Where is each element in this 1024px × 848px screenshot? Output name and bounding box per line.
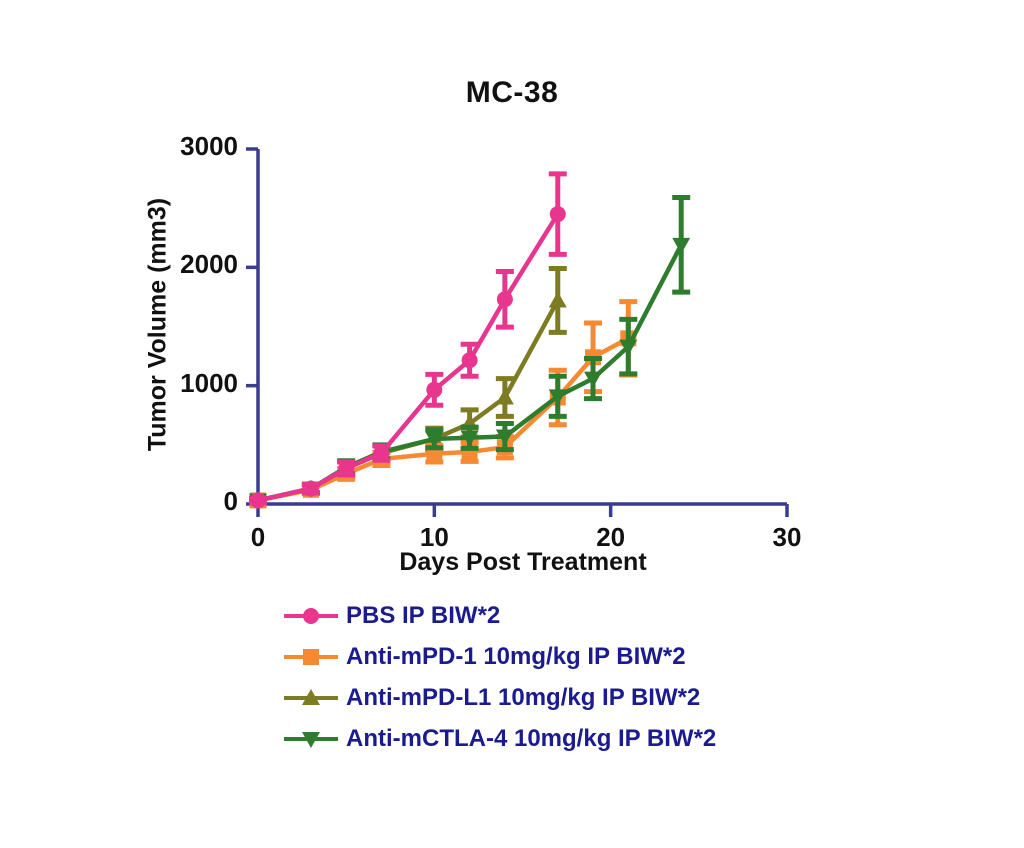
data-point-circle-icon xyxy=(373,445,389,461)
legend-square-icon xyxy=(303,649,319,665)
data-point-circle-icon xyxy=(250,492,266,508)
legend-label: PBS IP BIW*2 xyxy=(346,602,500,630)
data-point-circle-icon xyxy=(497,291,513,307)
x-tick-label: 0 xyxy=(208,522,308,553)
data-point-circle-icon xyxy=(338,461,354,477)
legend-label: Anti-mCTLA-4 10mg/kg IP BIW*2 xyxy=(346,725,716,753)
legend: PBS IP BIW*2 Anti-mPD-1 10mg/kg IP BIW*2… xyxy=(282,598,716,757)
series-2 xyxy=(249,269,567,508)
y-tick-label: 2000 xyxy=(0,249,238,280)
legend-item[interactable]: PBS IP BIW*2 xyxy=(282,598,716,634)
data-point-circle-icon xyxy=(426,382,442,398)
series-line xyxy=(258,300,558,500)
legend-label: Anti-mPD-1 10mg/kg IP BIW*2 xyxy=(346,643,686,671)
data-point-triangle-up-icon xyxy=(496,389,514,405)
data-point-circle-icon xyxy=(303,481,319,497)
legend-item[interactable]: Anti-mPD-L1 10mg/kg IP BIW*2 xyxy=(282,680,716,716)
data-point-triangle-down-icon xyxy=(672,238,690,254)
legend-label: Anti-mPD-L1 10mg/kg IP BIW*2 xyxy=(346,684,700,712)
data-point-triangle-up-icon xyxy=(549,291,567,307)
legend-marker-icon xyxy=(282,603,340,629)
y-tick-label: 1000 xyxy=(0,368,238,399)
y-tick-label: 3000 xyxy=(0,131,238,162)
y-axis-label: Tumor Volume (mm3) xyxy=(144,145,173,505)
legend-item[interactable]: Anti-mCTLA-4 10mg/kg IP BIW*2 xyxy=(282,721,716,757)
legend-circle-icon xyxy=(303,608,319,624)
legend-marker-icon xyxy=(282,726,340,752)
x-tick-label: 30 xyxy=(737,522,837,553)
x-tick-label: 20 xyxy=(561,522,661,553)
legend-marker-icon xyxy=(282,644,340,670)
legend-item[interactable]: Anti-mPD-1 10mg/kg IP BIW*2 xyxy=(282,639,716,675)
x-axis-label: Days Post Treatment xyxy=(258,548,788,577)
figure-container: MC-38 Tumor Volume (mm3) Days Post Treat… xyxy=(0,0,1024,848)
series-line xyxy=(258,338,628,500)
legend-marker-icon xyxy=(282,685,340,711)
y-tick-label: 0 xyxy=(0,486,238,517)
data-point-circle-icon xyxy=(462,352,478,368)
x-tick-label: 10 xyxy=(384,522,484,553)
data-point-circle-icon xyxy=(550,206,566,222)
